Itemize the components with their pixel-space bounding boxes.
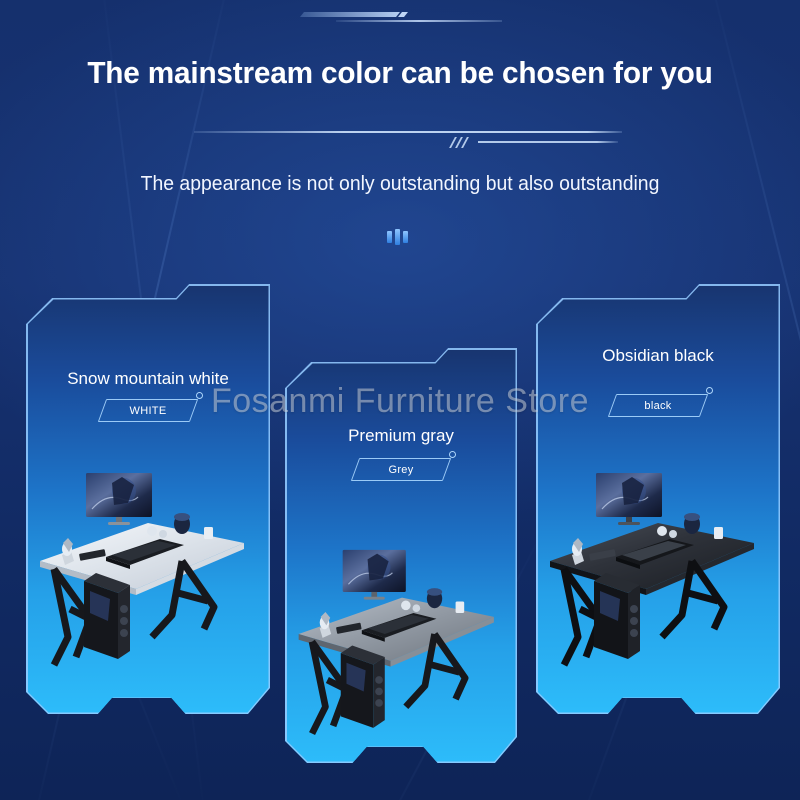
card-badge-white: WHITE xyxy=(102,399,194,422)
product-image-white xyxy=(32,469,264,699)
thin-rule xyxy=(336,20,502,22)
product-image-grey xyxy=(291,516,513,754)
color-card-grey[interactable]: Premium gray Grey xyxy=(285,348,517,763)
badge-label: black xyxy=(612,394,704,417)
promo-banner: The mainstream color can be chosen for y… xyxy=(0,0,800,800)
page-subtitle: The appearance is not only outstanding b… xyxy=(12,173,788,196)
angled-bar-icon xyxy=(300,12,400,17)
top-ribbon-decoration xyxy=(0,6,800,32)
badge-label: Grey xyxy=(355,458,447,481)
card-badge-grey: Grey xyxy=(355,458,447,481)
page-title: The mainstream color can be chosen for y… xyxy=(16,55,784,91)
color-card-white[interactable]: Snow mountain white WHITE xyxy=(26,284,270,714)
three-bars-icon xyxy=(386,229,412,245)
badge-dot-icon xyxy=(196,392,203,399)
badge-dot-icon xyxy=(449,451,456,458)
product-image-black xyxy=(542,469,774,699)
angled-bar-icon xyxy=(398,12,408,17)
color-card-black[interactable]: Obsidian black black xyxy=(536,284,780,714)
card-title: Premium gray xyxy=(285,426,517,446)
triple-slash-icon xyxy=(452,137,470,148)
thin-rule xyxy=(194,131,622,133)
card-title: Obsidian black xyxy=(536,346,780,366)
badge-dot-icon xyxy=(706,387,713,394)
divider-decoration xyxy=(0,126,800,154)
card-badge-black: black xyxy=(612,394,704,417)
thin-rule xyxy=(478,141,618,143)
badge-label: WHITE xyxy=(102,399,194,422)
card-title: Snow mountain white xyxy=(26,369,270,389)
